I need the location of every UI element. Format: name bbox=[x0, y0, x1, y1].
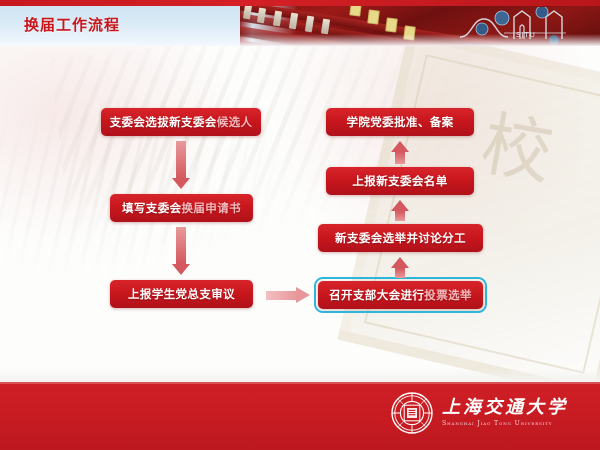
arrow-r2-to-r1 bbox=[391, 141, 409, 164]
slide-canvas: SJTU 换届工作流程 校 支委会选拔新支委会候选人 填写支委会换届申请书 上报… bbox=[0, 0, 600, 450]
step-branch-meeting-vote[interactable]: 召开支部大会进行投票选举 bbox=[318, 281, 483, 309]
footer-band: 上海交通大学 Shanghai Jiao Tong University bbox=[0, 382, 600, 450]
node-label-highlight: 候选人 bbox=[217, 114, 253, 130]
node-label-main: 支委会选拔新支委会 bbox=[110, 114, 217, 130]
sjtu-circular-seal-icon bbox=[391, 392, 433, 434]
process-flow-diagram: 支委会选拔新支委会候选人 填写支委会换届申请书 上报学生党总支审议 学院党委批准… bbox=[0, 46, 600, 382]
arrow-l2-to-l3 bbox=[172, 227, 190, 275]
node-label-main: 上报学生党总支审议 bbox=[128, 286, 235, 302]
arrow-l3-to-r4 bbox=[266, 287, 312, 303]
step-elect-and-assign[interactable]: 新支委会选举并讨论分工 bbox=[318, 224, 483, 252]
footer-gradient-gap bbox=[0, 368, 600, 382]
top-red-rule bbox=[0, 0, 600, 6]
header-band: SJTU 换届工作流程 bbox=[0, 4, 600, 46]
logo-text-block: 上海交通大学 Shanghai Jiao Tong University bbox=[442, 399, 568, 428]
step-submit-namelist[interactable]: 上报新支委会名单 bbox=[326, 167, 474, 195]
page-title: 换届工作流程 bbox=[24, 14, 120, 35]
step-select-candidates[interactable]: 支委会选拔新支委会候选人 bbox=[101, 108, 261, 136]
node-label-main: 召开支部大会进行 bbox=[329, 287, 424, 303]
arrow-r3-to-r2 bbox=[391, 200, 409, 221]
node-label-main: 学院党委批准、备案 bbox=[346, 114, 453, 130]
node-label-main: 新支委会选举并讨论分工 bbox=[335, 230, 466, 246]
arrow-l1-to-l2 bbox=[172, 141, 190, 189]
node-label-main: 上报新支委会名单 bbox=[352, 173, 447, 189]
node-label-main: 填写支委会 bbox=[122, 200, 182, 216]
step-fill-application[interactable]: 填写支委会换届申请书 bbox=[110, 194, 253, 222]
arrow-r4-to-r3 bbox=[391, 257, 409, 278]
university-logo: 上海交通大学 Shanghai Jiao Tong University bbox=[391, 392, 568, 434]
step-report-branch-review[interactable]: 上报学生党总支审议 bbox=[110, 280, 253, 308]
step-committee-approval[interactable]: 学院党委批准、备案 bbox=[326, 108, 474, 136]
logo-english-name: Shanghai Jiao Tong University bbox=[442, 420, 552, 427]
node-label-highlight: 投票选举 bbox=[424, 287, 472, 303]
footer-top-highlight bbox=[0, 382, 600, 384]
node-label-highlight: 换届申请书 bbox=[182, 200, 242, 216]
header-photo-fade bbox=[240, 34, 600, 46]
logo-chinese-name: 上海交通大学 bbox=[442, 399, 568, 418]
